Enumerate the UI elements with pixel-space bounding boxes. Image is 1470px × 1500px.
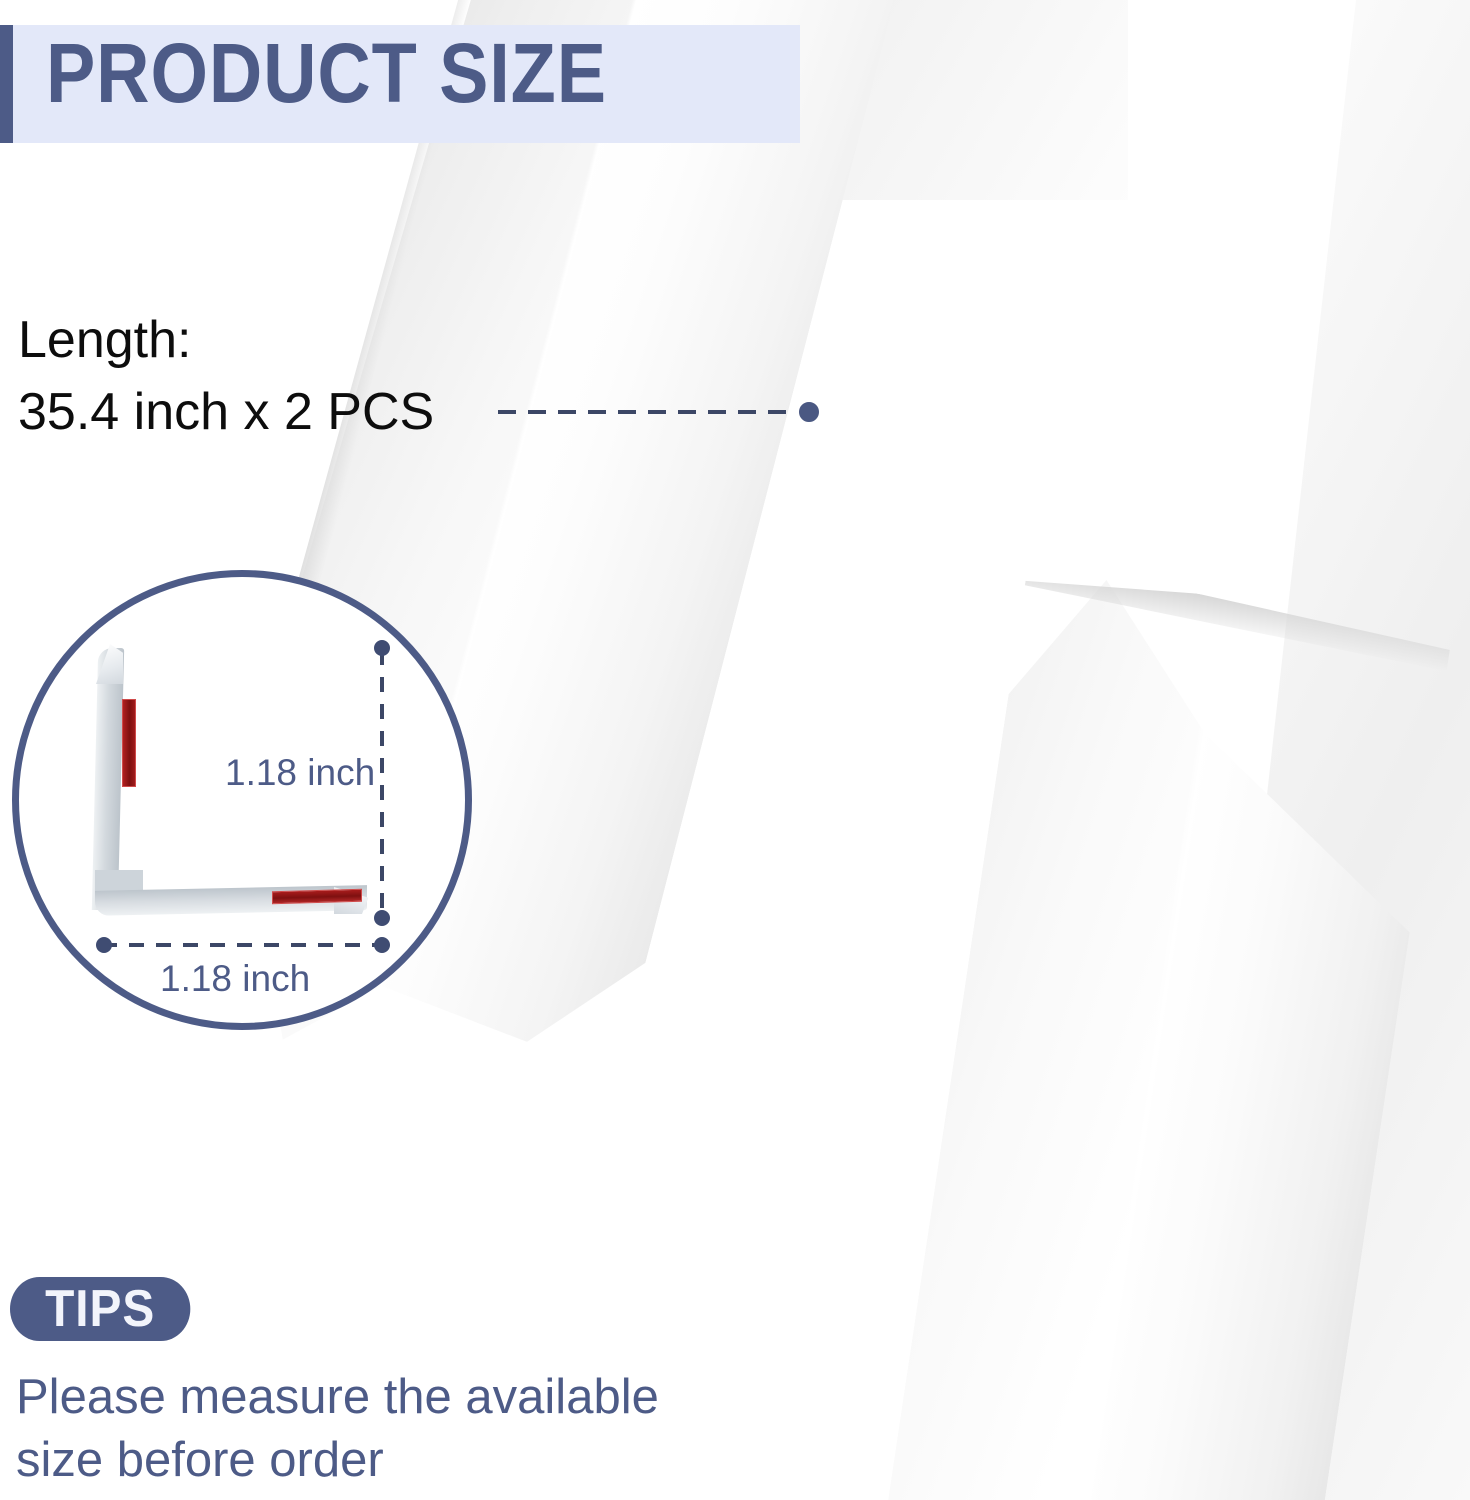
strip-right-face-b xyxy=(1080,598,1454,1500)
strip-right-top-edge xyxy=(1021,568,1452,671)
dimension-label-width: 1.18 inch xyxy=(160,958,310,1000)
page-title: PRODUCT SIZE xyxy=(46,31,607,115)
strip-right-crease-highlight xyxy=(1072,655,1222,1500)
tips-text: Please measure the available size before… xyxy=(16,1366,816,1491)
tips-badge: TIPS xyxy=(10,1277,190,1341)
corner-guard-strip-right xyxy=(883,568,1453,1500)
length-label: Length: xyxy=(18,305,434,377)
header-accent-bar xyxy=(0,25,13,143)
adhesive-strip-horizontal xyxy=(272,889,362,905)
tips-line-2: size before order xyxy=(16,1429,816,1492)
dimension-dot-right xyxy=(374,937,390,953)
cross-section-inset: 1.18 inch 1.18 inch xyxy=(12,570,472,1030)
background-wash-right xyxy=(1170,0,1470,1500)
dimension-dot-bottom xyxy=(374,910,390,926)
length-callout: Length: 35.4 inch x 2 PCS xyxy=(18,305,434,449)
adhesive-strip-vertical xyxy=(122,699,136,787)
strip-right-face-a xyxy=(883,568,1226,1500)
background-wash-top xyxy=(798,0,1128,200)
dimension-label-height: 1.18 inch xyxy=(225,752,375,794)
length-leader-line xyxy=(498,410,798,414)
dimension-dot-top xyxy=(374,640,390,656)
dimension-line-vertical xyxy=(380,650,384,920)
product-size-infographic: PRODUCT SIZE Length: 35.4 inch x 2 PCS 1… xyxy=(0,0,1470,1500)
dimension-dot-left xyxy=(96,937,112,953)
length-leader-dot xyxy=(793,396,825,428)
dimension-line-horizontal xyxy=(102,943,380,947)
length-value: 35.4 inch x 2 PCS xyxy=(18,377,434,449)
tips-line-1: Please measure the available xyxy=(16,1366,816,1429)
